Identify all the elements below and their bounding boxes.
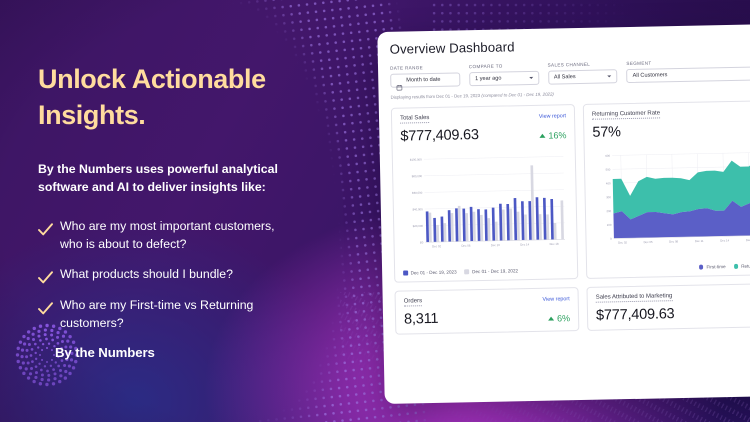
card-header: Total Sales View report: [400, 112, 566, 123]
bar-chart-svg: $100,000$80,000$60,000$40,000$20,000$0De…: [401, 146, 569, 261]
legend-label: First-time: [706, 264, 725, 269]
card-header: Sales Attributed to Marketing Vie: [596, 291, 750, 302]
svg-text:Dec 02: Dec 02: [618, 240, 627, 244]
metrics-column-left: Total Sales View report $777,409.63 16% …: [391, 104, 580, 335]
list-item-label: What products should I bundle?: [60, 266, 233, 283]
svg-text:Dec 10: Dec 10: [491, 243, 500, 247]
status-badge: 16%: [539, 130, 566, 141]
legend-item: Dec 01 - Dec 19, 2023: [403, 270, 457, 276]
results-note: Displaying results from Dec 01 - Dec 19,…: [391, 87, 750, 100]
hero-subheading: By the Numbers uses powerful analytical …: [38, 160, 310, 196]
card-title: Orders: [404, 298, 423, 306]
card-sales-attributed-to-marketing: Sales Attributed to Marketing Vie $777,4…: [586, 283, 750, 331]
metric-value: $777,409.63: [596, 306, 675, 324]
total-sales-chart: $100,000$80,000$60,000$40,000$20,000$0De…: [401, 146, 569, 266]
results-note-compare: (compared to Dec 01 - Dec 19, 2022): [481, 92, 554, 98]
check-icon: [38, 271, 60, 284]
page-title: Unlock Actionable Insights.: [38, 62, 346, 134]
delta-value: 6%: [557, 313, 570, 323]
card-orders: Orders View report 8,311 6%: [395, 287, 580, 335]
svg-text:Dec 18: Dec 18: [550, 242, 559, 246]
chart-legend: Dec 01 - Dec 19, 2023 Dec 01 - Dec 19, 2…: [403, 267, 569, 275]
filter-label: SEGMENT: [626, 58, 750, 66]
brand-logo: By the Numbers: [10, 318, 210, 392]
svg-text:100: 100: [607, 223, 612, 227]
filter-label: COMPARE TO: [469, 63, 539, 69]
area-chart-svg: 6005004003002001000Dec 02Dec 05Dec 08Dec…: [593, 142, 750, 257]
view-report-link[interactable]: View report: [539, 113, 566, 120]
metric-value: 57%: [592, 124, 621, 141]
svg-text:Dec 05: Dec 05: [644, 240, 653, 244]
card-title: Returning Customer Rate: [592, 110, 660, 119]
card-header: Returning Customer Rate Vie: [592, 108, 750, 119]
legend-label: Dec 01 - Dec 19, 2022: [472, 268, 518, 274]
date-range-select[interactable]: Month to date: [390, 72, 460, 87]
trend-up-icon: [539, 134, 545, 138]
filter-label: SALES CHANNEL: [548, 61, 618, 67]
legend-label: Dec 01 - Dec 19, 2023: [411, 270, 457, 276]
delta-value: 16%: [548, 130, 566, 140]
returning-customer-chart: 6005004003002001000Dec 02Dec 05Dec 08Dec…: [593, 142, 750, 262]
metric-row: $777,409.63 16%: [400, 125, 566, 144]
compare-to-select[interactable]: 1 year ago: [469, 71, 539, 86]
card-title: Sales Attributed to Marketing: [596, 293, 673, 303]
overview-dashboard-panel: Overview Dashboard DATE RANGE Month to d…: [377, 24, 750, 404]
svg-text:$80,000: $80,000: [412, 174, 423, 178]
svg-text:Dec 17: Dec 17: [746, 238, 750, 242]
legend-swatch: [734, 264, 739, 269]
metric-row: 57%: [592, 121, 750, 140]
svg-text:$0: $0: [420, 240, 424, 244]
svg-text:$60,000: $60,000: [412, 191, 423, 195]
filter-value: All Sales: [554, 74, 604, 81]
check-icon: [38, 302, 60, 315]
svg-text:Dec 14: Dec 14: [520, 242, 529, 246]
chevron-down-icon: [608, 75, 612, 77]
legend-item: First-time: [699, 264, 726, 270]
benefit-list: Who are my most important customers, who…: [38, 218, 346, 332]
list-item: Who are my most important customers, who…: [38, 218, 346, 253]
metric-value: $777,409.63: [400, 127, 479, 145]
segment-select[interactable]: All Customers: [626, 66, 750, 83]
list-item: What products should I bundle?: [38, 266, 346, 284]
filter-value: All Customers: [633, 70, 750, 79]
metric-value: 8,311: [404, 311, 439, 328]
filter-value: 1 year ago: [475, 75, 525, 82]
svg-text:$100,000: $100,000: [410, 158, 422, 162]
svg-text:0: 0: [610, 237, 612, 241]
svg-text:Dec 08: Dec 08: [669, 239, 678, 243]
filter-compare-to: COMPARE TO 1 year ago: [469, 63, 539, 86]
svg-text:600: 600: [605, 154, 610, 158]
calendar-icon: [396, 78, 402, 84]
legend-item: Returning: [734, 263, 750, 269]
svg-text:$20,000: $20,000: [413, 224, 424, 228]
legend-swatch: [403, 271, 408, 276]
dashboard-title: Overview Dashboard: [390, 34, 750, 57]
chevron-down-icon: [529, 77, 533, 79]
filter-bar: DATE RANGE Month to date COMPARE TO 1 ye…: [390, 58, 750, 88]
metrics-column-right: Returning Customer Rate Vie 57% 60050040…: [583, 100, 750, 331]
view-report-link[interactable]: View report: [542, 296, 569, 303]
legend-swatch: [465, 270, 470, 275]
card-title: Total Sales: [400, 115, 430, 124]
svg-text:300: 300: [606, 195, 611, 199]
svg-text:200: 200: [606, 209, 611, 213]
metrics-grid: Total Sales View report $777,409.63 16% …: [391, 100, 750, 335]
svg-text:$40,000: $40,000: [412, 207, 423, 211]
filter-sales-channel: SALES CHANNEL All Sales: [548, 61, 618, 84]
results-note-text: Displaying results from Dec 01 - Dec 19,…: [391, 93, 482, 100]
trend-up-icon: [548, 317, 554, 321]
sales-channel-select[interactable]: All Sales: [548, 69, 618, 84]
svg-text:400: 400: [606, 181, 611, 185]
legend-label: Returning: [741, 263, 750, 268]
filter-value: Month to date: [406, 77, 454, 84]
status-badge: 6%: [548, 313, 570, 323]
svg-text:Dec 02: Dec 02: [432, 244, 441, 248]
brand-name: By the Numbers: [55, 345, 155, 360]
card-total-sales: Total Sales View report $777,409.63 16% …: [391, 104, 578, 283]
metric-row: 8,311 6%: [404, 308, 570, 327]
list-item-label: Who are my most important customers, who…: [60, 218, 275, 253]
filter-segment: SEGMENT All Customers: [626, 58, 750, 83]
chart-legend: First-time Returning: [595, 263, 750, 271]
card-header: Orders View report: [404, 295, 570, 306]
svg-text:500: 500: [606, 168, 611, 172]
metric-row: $777,409.63: [596, 304, 750, 323]
check-icon: [38, 223, 60, 236]
svg-text:Dec 11: Dec 11: [695, 239, 704, 243]
legend-item: Dec 01 - Dec 19, 2022: [465, 268, 519, 274]
svg-text:Dec 06: Dec 06: [461, 244, 470, 248]
svg-text:Dec 14: Dec 14: [720, 238, 729, 242]
filter-date-range: DATE RANGE Month to date: [390, 64, 460, 87]
card-returning-customer-rate: Returning Customer Rate Vie 57% 60050040…: [583, 100, 750, 279]
filter-label: DATE RANGE: [390, 64, 460, 70]
legend-swatch: [699, 265, 704, 270]
